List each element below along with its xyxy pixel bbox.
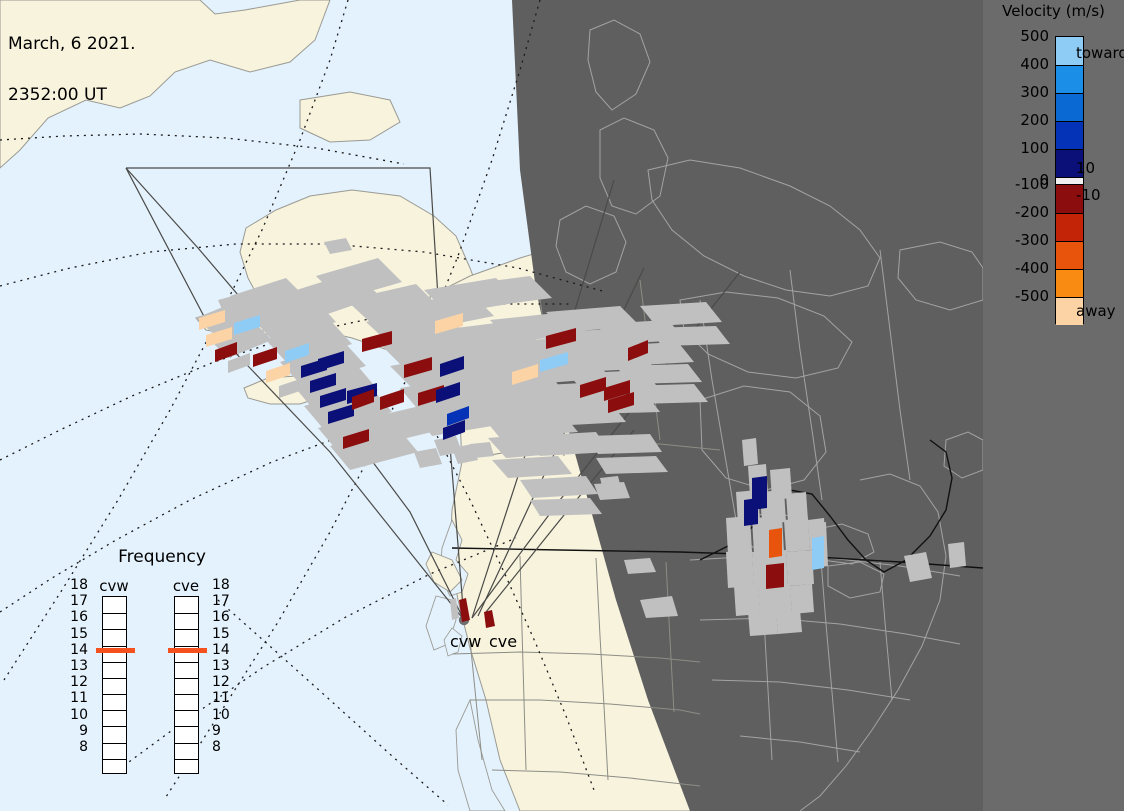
superdarn-map-page: cvwcve March, 6 2021. 2352:00 UT Frequen… [0, 0, 1124, 811]
gauge-tick-line [175, 726, 198, 727]
gauge-tick-label: 12 [64, 675, 88, 689]
velocity-cell [320, 388, 346, 408]
gauge-tick-line [175, 662, 198, 663]
gauge-tick-label: 12 [212, 675, 238, 689]
velocity-cell [540, 352, 568, 372]
gauge-tick-label: 9 [212, 724, 238, 738]
gauge-tick-label: 14 [212, 643, 238, 657]
velocity-cell [812, 536, 824, 570]
velocity-cell [470, 345, 492, 365]
gauge-tick-line [103, 694, 126, 695]
gauge-tick-line [175, 646, 198, 647]
gauge-tick-label: 16 [212, 610, 238, 624]
velocity-cell [279, 378, 303, 398]
velocity-cell [362, 331, 392, 352]
gauge-tick-line [175, 694, 198, 695]
gauge-tick-line [103, 629, 126, 630]
gauge-tick-line [103, 678, 126, 679]
gauge-value-marker [96, 648, 135, 653]
gauge-scale-cve [174, 596, 199, 774]
gauge-tick-label: 13 [212, 659, 238, 673]
gauge-tick-line [103, 662, 126, 663]
gauge-tick-line [103, 613, 126, 614]
velocity-cell [769, 528, 782, 558]
site-label-cvw: cvw [450, 632, 481, 651]
gauge-tick-line [175, 743, 198, 744]
gauge-tick-line [103, 759, 126, 760]
gauge-tick-label: 18 [64, 578, 88, 592]
gauge-tick-label: 13 [64, 659, 88, 673]
gauge-ticks-cvw-left: 18171615141312111098 [64, 577, 88, 755]
gauge-ticks-cve-right: 18171615141312111098 [212, 577, 238, 755]
gauge-tick-line [175, 678, 198, 679]
gauge-tick-label: 17 [212, 594, 238, 608]
frequency-gauge-cve[interactable]: cve 18171615141312111098 [164, 577, 208, 774]
velocity-cell [266, 363, 290, 383]
velocity-cells-layer [0, 0, 983, 811]
colorbar-toward-label: toward [1076, 44, 1124, 62]
site-label-cve: cve [489, 632, 517, 651]
gauge-tick-label: 16 [64, 610, 88, 624]
velocity-cell [318, 351, 344, 371]
velocity-cell [253, 347, 277, 367]
gauge-label-cve: cve [164, 577, 208, 595]
gauge-tick-label: 8 [64, 740, 88, 754]
velocity-cell [766, 563, 784, 589]
frequency-gauge-cvw[interactable]: cvw 18171615141312111098 [92, 577, 136, 774]
velocity-cell [206, 327, 232, 347]
frequency-panel: Frequency cvw 18171615141312111098 cve 1… [92, 547, 222, 567]
gauge-tick-label: 17 [64, 594, 88, 608]
velocity-cell [628, 340, 648, 361]
timestamp-title: March, 6 2021. 2352:00 UT [8, 2, 136, 138]
velocity-cell [328, 404, 354, 424]
gauge-tick-label: 10 [212, 708, 238, 722]
gauge-tick-line [103, 646, 126, 647]
gauge-tick-label: 11 [64, 691, 88, 705]
gauge-tick-line [103, 743, 126, 744]
velocity-cell [310, 373, 336, 393]
velocity-cell [199, 310, 225, 330]
gauge-tick-line [175, 710, 198, 711]
gauge-scale-cvw [102, 596, 127, 774]
gauge-tick-label: 10 [64, 708, 88, 722]
velocity-cell [436, 382, 460, 403]
velocity-cell [242, 329, 264, 349]
title-date: March, 6 2021. [8, 36, 136, 53]
velocity-cell [404, 357, 432, 378]
gauge-tick-label: 18 [212, 578, 238, 592]
velocity-cell [435, 313, 463, 334]
title-time: 2352:00 UT [8, 87, 136, 104]
velocity-cell [744, 498, 758, 526]
gauge-tick-label: 11 [212, 691, 238, 705]
velocity-cell [580, 377, 606, 398]
velocity-cell [380, 389, 404, 410]
gauge-tick-line [175, 613, 198, 614]
colorbar-zero-lower-label: -10 [1076, 186, 1101, 204]
map-canvas[interactable]: cvwcve March, 6 2021. 2352:00 UT Frequen… [0, 0, 983, 811]
gauge-tick-line [175, 759, 198, 760]
gauge-label-cvw: cvw [92, 577, 136, 595]
gauge-tick-label: 14 [64, 643, 88, 657]
velocity-cell [285, 343, 309, 363]
gauge-tick-line [175, 629, 198, 630]
gauge-tick-line [103, 710, 126, 711]
gauge-tick-label: 8 [212, 740, 238, 754]
frequency-title: Frequency [102, 547, 222, 567]
gauge-tick-line [103, 726, 126, 727]
gauge-tick-label: 9 [64, 724, 88, 738]
colorbar-zero-upper-label: 10 [1076, 159, 1095, 177]
gauge-tick-label: 15 [212, 627, 238, 641]
velocity-cell [512, 364, 538, 385]
gauge-tick-label: 15 [64, 627, 88, 641]
velocity-cell [546, 328, 576, 349]
colorbar-side-labels: toward10-10away [983, 0, 1124, 811]
colorbar-away-label: away [1076, 302, 1116, 320]
gauge-value-marker [168, 648, 207, 653]
velocity-cell [440, 356, 464, 377]
